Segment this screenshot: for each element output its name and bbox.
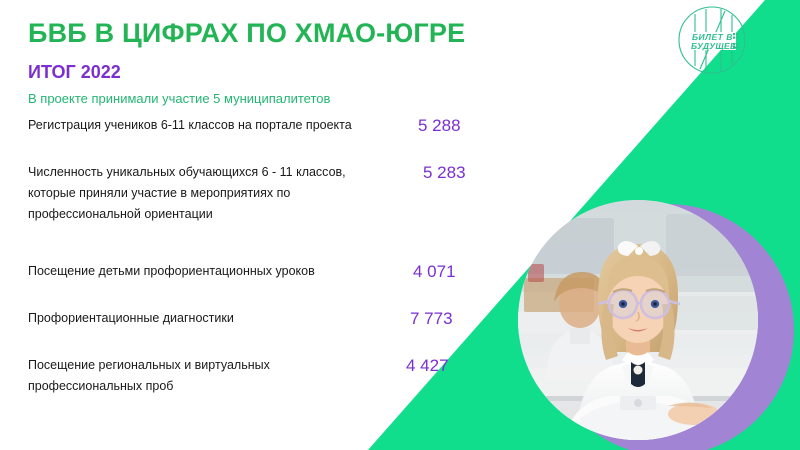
- stat-value: 5 288: [418, 115, 461, 136]
- stat-value: 4 427: [406, 355, 449, 376]
- logo-line-2: БУДУЩЕЕ: [691, 41, 736, 51]
- schoolgirl-in-lab-coat-photo: Девочка в белом халате и очках за партой…: [518, 200, 758, 440]
- bilet-v-budushee-logo: БИЛЕТ В БУДУЩЕЕ: [676, 4, 748, 76]
- stat-value: 7 773: [410, 308, 453, 329]
- stat-value: 5 283: [423, 162, 466, 183]
- participants-note: В проекте принимали участие 5 муниципали…: [28, 91, 330, 106]
- text-content: БВБ В ЦИФРАХ ПО ХМАО-ЮГРЕ ИТОГ 2022 В пр…: [0, 0, 520, 450]
- stat-label: Численность уникальных обучающихся 6 - 1…: [28, 162, 388, 225]
- page-title: БВБ В ЦИФРАХ ПО ХМАО-ЮГРЕ: [28, 18, 465, 49]
- stat-label: Посещение детьми профориентационных урок…: [28, 261, 408, 282]
- stat-label: Регистрация учеников 6-11 классов на пор…: [28, 115, 408, 136]
- stat-value: 4 071: [413, 261, 456, 282]
- slide-root: БИЛЕТ В БУДУЩЕЕ Девочка в белом халате и…: [0, 0, 800, 450]
- stat-label: Профориентационные диагностики: [28, 308, 408, 329]
- photo-composition: Девочка в белом халате и очках за партой…: [516, 196, 800, 450]
- stat-label: Посещение региональных и виртуальных про…: [28, 355, 328, 397]
- subtitle-year: ИТОГ 2022: [28, 62, 121, 83]
